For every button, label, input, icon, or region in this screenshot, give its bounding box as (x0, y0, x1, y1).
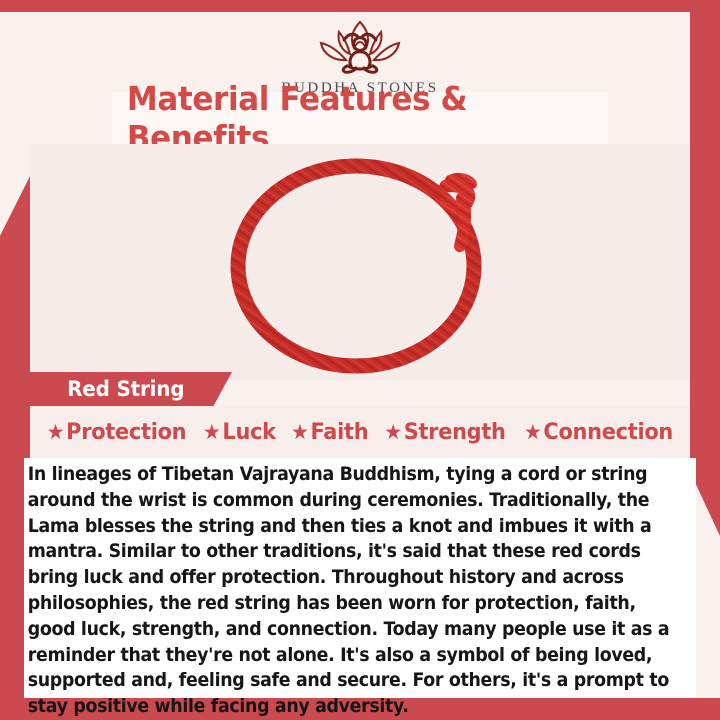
product-label-ribbon: Red String (0, 372, 232, 406)
benefit-item-luck: ★ Luck (203, 420, 276, 445)
frame-band-top (0, 0, 720, 12)
benefits-row: ★ Protection ★ Luck ★ Faith ★ Strength ★… (30, 406, 690, 458)
product-label: Red String (67, 377, 184, 401)
benefit-item-strength: ★ Strength (384, 420, 505, 445)
star-icon: ★ (384, 422, 402, 443)
infographic-poster: BUDDHA STONES Material Features & Benefi… (0, 0, 720, 720)
red-braided-cord-bracelet-icon (210, 150, 510, 374)
product-image (30, 144, 690, 380)
benefit-item-connection: ★ Connection (524, 420, 673, 445)
benefit-label: Strength (404, 420, 506, 445)
description-panel: In lineages of Tibetan Vajrayana Buddhis… (24, 458, 696, 698)
benefit-label: Connection (543, 420, 673, 445)
benefit-label: Protection (66, 420, 186, 445)
benefit-label: Faith (310, 420, 368, 445)
star-icon: ★ (524, 422, 542, 443)
star-icon: ★ (47, 422, 65, 443)
benefit-item-protection: ★ Protection (47, 420, 187, 445)
title-band: Material Features & Benefits (112, 92, 608, 144)
star-icon: ★ (291, 422, 309, 443)
benefit-label: Luck (222, 420, 275, 445)
star-icon: ★ (203, 422, 221, 443)
lotus-meditation-figure-icon (292, 16, 428, 78)
description-paragraph: In lineages of Tibetan Vajrayana Buddhis… (24, 462, 693, 720)
benefit-item-faith: ★ Faith (291, 420, 368, 445)
